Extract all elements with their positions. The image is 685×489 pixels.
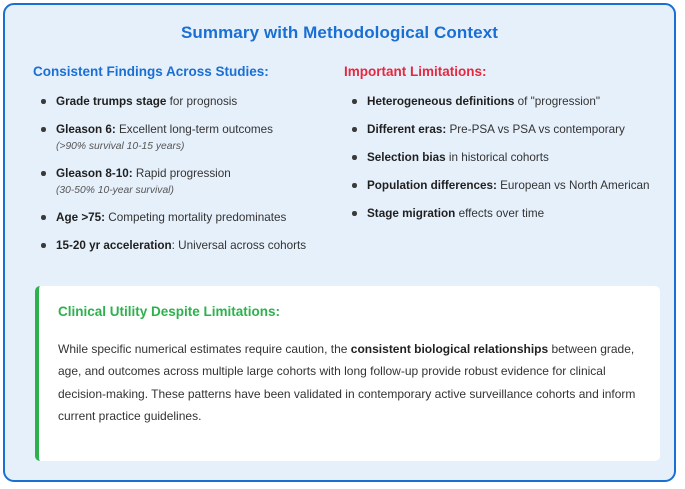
list-item: Stage migration effects over time <box>344 206 664 221</box>
list-item: Selection bias in historical cohorts <box>344 150 664 165</box>
limitations-heading: Important Limitations: <box>344 64 664 80</box>
clinical-utility-body: While specific numerical estimates requi… <box>58 338 638 427</box>
page-title: Summary with Methodological Context <box>5 23 674 43</box>
bullet-dot-icon <box>352 155 357 160</box>
findings-column: Consistent Findings Across Studies: Grad… <box>33 64 333 266</box>
bullet-dot-icon <box>352 99 357 104</box>
list-item: Grade trumps stage for prognosis <box>33 94 333 109</box>
list-item-bold: Heterogeneous definitions <box>367 95 514 108</box>
bullet-dot-icon <box>41 99 46 104</box>
list-item-bold: 15-20 yr acceleration <box>56 239 172 252</box>
list-item-bold: Population differences: <box>367 179 497 192</box>
list-item-text: Excellent long-term outcomes <box>116 123 273 136</box>
list-item-text: effects over time <box>455 207 544 220</box>
list-item: Different eras: Pre-PSA vs PSA vs contem… <box>344 122 664 137</box>
list-item: Gleason 6: Excellent long-term outcomes … <box>33 122 333 153</box>
list-item-bold: Different eras: <box>367 123 446 136</box>
list-item-bold: Age >75: <box>56 211 105 224</box>
bullet-dot-icon <box>352 183 357 188</box>
list-item-text: Rapid progression <box>133 167 231 180</box>
list-item-text: Competing mortality predominates <box>105 211 286 224</box>
list-item-bold: Gleason 6: <box>56 123 116 136</box>
list-item-subtext: (>90% survival 10-15 years) <box>56 140 333 153</box>
body-text-part1: While specific numerical estimates requi… <box>58 342 351 356</box>
limitations-list: Heterogeneous definitions of "progressio… <box>344 94 664 221</box>
list-item-bold: Selection bias <box>367 151 446 164</box>
list-item: 15-20 yr acceleration: Universal across … <box>33 238 333 253</box>
list-item-bold: Gleason 8-10: <box>56 167 133 180</box>
list-item-text: Pre-PSA vs PSA vs contemporary <box>446 123 625 136</box>
list-item-subtext: (30-50% 10-year survival) <box>56 184 333 197</box>
list-item-bold: Stage migration <box>367 207 455 220</box>
clinical-utility-card: Clinical Utility Despite Limitations: Wh… <box>35 286 660 461</box>
bullet-dot-icon <box>41 215 46 220</box>
limitations-column: Important Limitations: Heterogeneous def… <box>344 64 664 234</box>
list-item-text: in historical cohorts <box>446 151 549 164</box>
bullet-dot-icon <box>41 243 46 248</box>
clinical-utility-heading: Clinical Utility Despite Limitations: <box>58 304 280 320</box>
list-item-text: European vs North American <box>497 179 650 192</box>
summary-panel: Summary with Methodological Context Cons… <box>3 3 676 482</box>
list-item: Heterogeneous definitions of "progressio… <box>344 94 664 109</box>
list-item: Age >75: Competing mortality predominate… <box>33 210 333 225</box>
bullet-dot-icon <box>41 171 46 176</box>
list-item-text: : Universal across cohorts <box>172 239 306 252</box>
list-item: Population differences: European vs Nort… <box>344 178 664 193</box>
findings-heading: Consistent Findings Across Studies: <box>33 64 333 80</box>
list-item-text: for prognosis <box>166 95 237 108</box>
list-item: Gleason 8-10: Rapid progression (30-50% … <box>33 166 333 197</box>
list-item-bold: Grade trumps stage <box>56 95 166 108</box>
findings-list: Grade trumps stage for prognosis Gleason… <box>33 94 333 253</box>
bullet-dot-icon <box>352 127 357 132</box>
body-text-bold: consistent biological relationships <box>351 342 548 356</box>
bullet-dot-icon <box>41 127 46 132</box>
list-item-text: of "progression" <box>514 95 600 108</box>
bullet-dot-icon <box>352 211 357 216</box>
